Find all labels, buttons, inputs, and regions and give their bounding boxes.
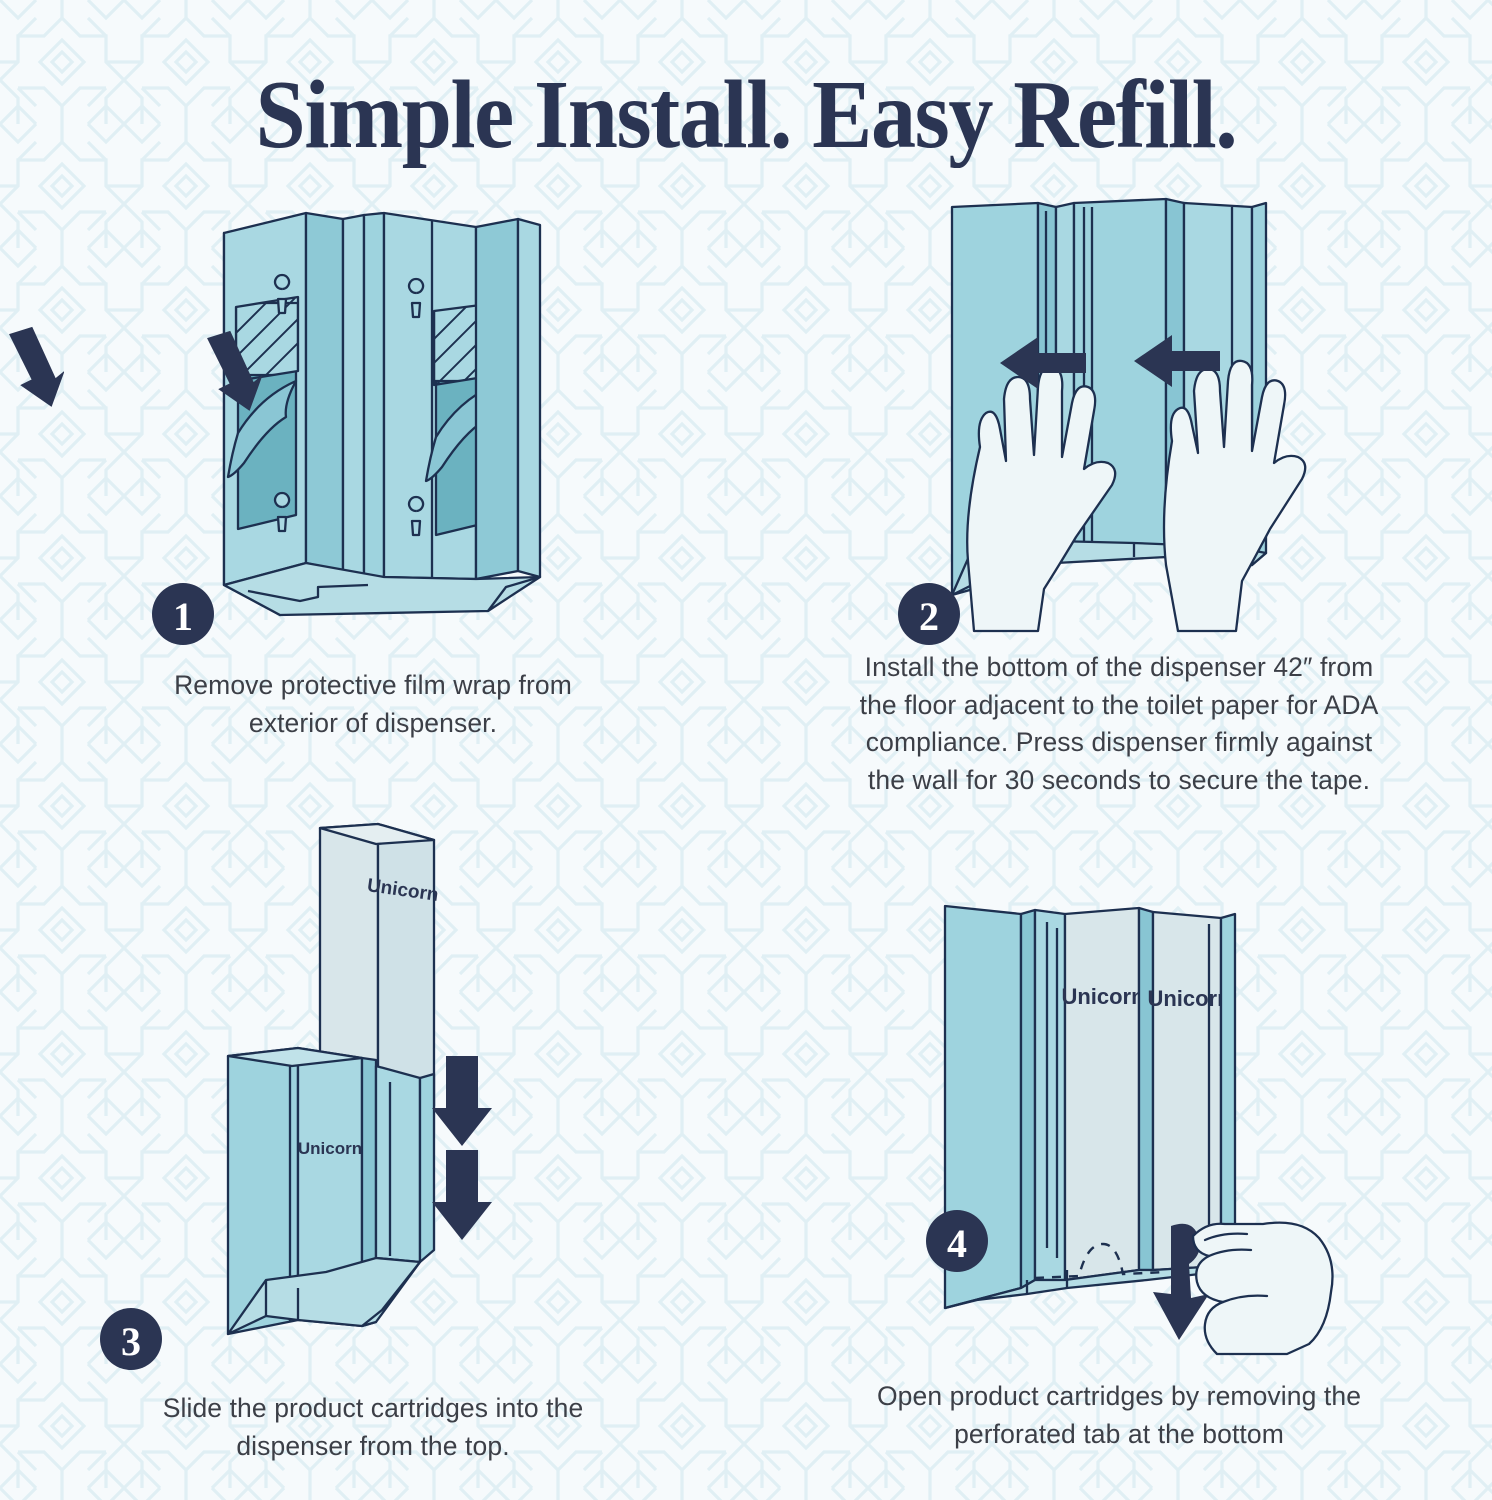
infographic-root: Simple Install. Easy Refill. — [0, 0, 1492, 1500]
step-4-caption: Open product cartridges by removing the … — [859, 1378, 1379, 1453]
step-2-caption: Install the bottom of the dispenser 42″ … — [859, 649, 1379, 800]
step-4-illustration-wrap: Unicorn Unicorn — [917, 888, 1337, 1358]
step-4-cartridge-label-left: Unicorn — [1061, 984, 1144, 1009]
perforated-tab-pull-icon: Unicorn Unicorn — [917, 888, 1337, 1358]
step-1-badge: 1 — [152, 583, 214, 645]
step-2-number: 2 — [919, 594, 939, 639]
dispenser-film-removal-icon — [188, 185, 568, 645]
step-1-arrow-right — [202, 329, 262, 415]
steps-grid: 1 Remove protective film wrap from exter… — [0, 185, 1492, 1495]
step-4: Unicorn Unicorn — [746, 810, 1492, 1495]
cartridge-insert-icon: Unicorn Unicorn — [206, 810, 536, 1370]
step-4-badge: 4 — [926, 1210, 988, 1272]
step-3-arrows — [432, 1056, 492, 1240]
step-1-caption: Remove protective film wrap from exterio… — [163, 667, 583, 742]
step-1-arrow-left — [4, 325, 64, 411]
step-3-badge: 3 — [100, 1308, 162, 1370]
step-2-badge: 2 — [898, 583, 960, 645]
step-1: 1 Remove protective film wrap from exter… — [0, 185, 746, 810]
step-3-cartridge-label-lower: Unicorn — [298, 1139, 362, 1158]
step-3: Unicorn Unicorn — [0, 810, 746, 1495]
step-4-number: 4 — [947, 1221, 967, 1266]
pinching-hand — [1193, 1223, 1333, 1354]
step-3-number: 3 — [121, 1319, 141, 1364]
step-2: 2 Install the bottom of the dispenser 42… — [746, 185, 1492, 810]
step-2-illustration-wrap: 2 — [934, 185, 1314, 635]
step-3-illustration-wrap: Unicorn Unicorn — [206, 810, 536, 1370]
step-3-caption: Slide the product cartridges into the di… — [133, 1390, 613, 1465]
step-1-number: 1 — [173, 594, 193, 639]
step-4-cartridge-label-right: Unicorn — [1147, 986, 1230, 1011]
step-1-illustration-wrap: 1 — [188, 185, 568, 645]
dispenser-wall-mount-hands-icon — [934, 185, 1314, 635]
page-title: Simple Install. Easy Refill. — [52, 66, 1440, 163]
